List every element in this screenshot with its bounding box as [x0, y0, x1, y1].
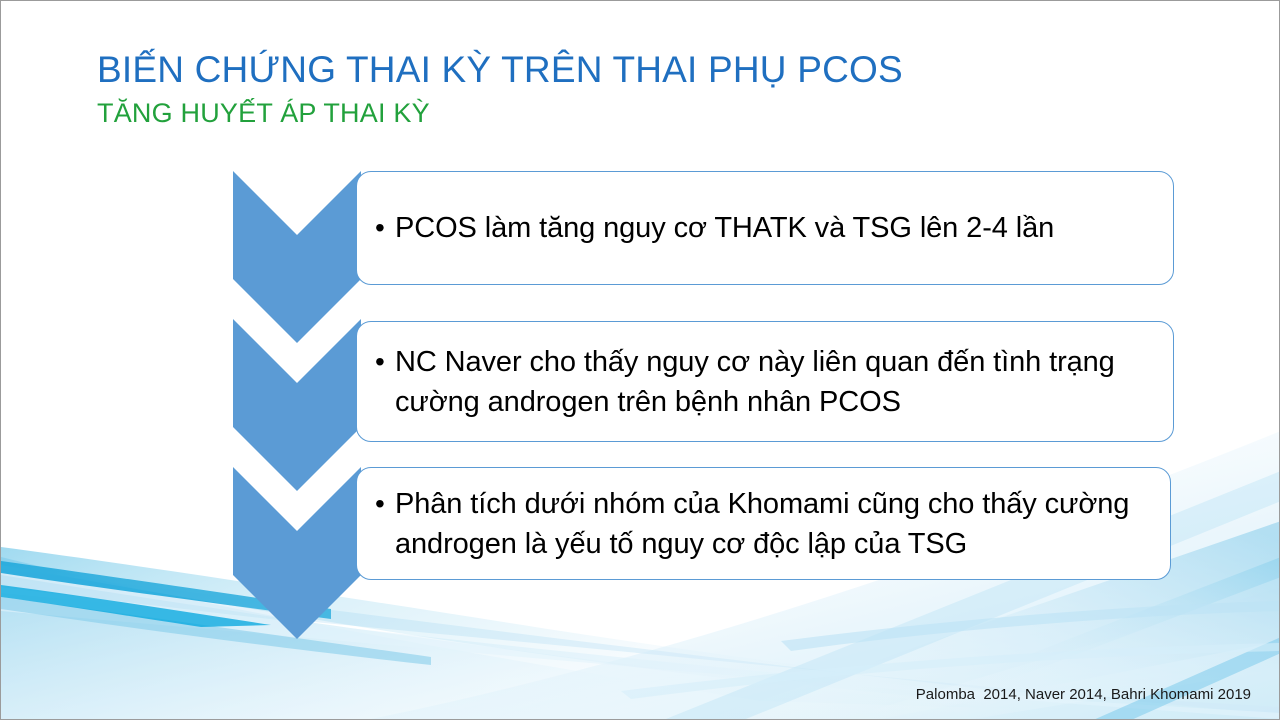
bullet-row: • NC Naver cho thấy nguy cơ này liên qua…: [375, 342, 1161, 422]
content-box: • NC Naver cho thấy nguy cơ này liên qua…: [356, 321, 1174, 442]
page-subtitle: TĂNG HUYẾT ÁP THAI KỲ: [97, 96, 1147, 130]
bullet-dot-icon: •: [375, 208, 395, 248]
page-title: BIẾN CHỨNG THAI KỲ TRÊN THAI PHỤ PCOS: [97, 47, 1147, 93]
chevron-arrow-stack: [233, 171, 361, 657]
bullet-text: NC Naver cho thấy nguy cơ này liên quan …: [395, 342, 1161, 422]
bullet-row: • Phân tích dưới nhóm của Khomami cũng c…: [375, 484, 1158, 564]
bullet-text: Phân tích dưới nhóm của Khomami cũng cho…: [395, 484, 1158, 564]
bullet-dot-icon: •: [375, 484, 395, 524]
bullet-row: • PCOS làm tăng nguy cơ THATK và TSG lên…: [375, 208, 1161, 248]
bullet-text: PCOS làm tăng nguy cơ THATK và TSG lên 2…: [395, 208, 1161, 248]
presentation-slide: BIẾN CHỨNG THAI KỲ TRÊN THAI PHỤ PCOS TĂ…: [0, 0, 1280, 720]
chevron-arrows-svg: [233, 171, 361, 657]
content-box: • Phân tích dưới nhóm của Khomami cũng c…: [356, 467, 1171, 580]
chevron-down-icon: [233, 171, 361, 343]
chevron-down-icon: [233, 467, 361, 639]
title-block: BIẾN CHỨNG THAI KỲ TRÊN THAI PHỤ PCOS TĂ…: [97, 47, 1147, 130]
bullet-dot-icon: •: [375, 342, 395, 382]
footer-citation: Palomba 2014, Naver 2014, Bahri Khomami …: [916, 685, 1251, 705]
content-box: • PCOS làm tăng nguy cơ THATK và TSG lên…: [356, 171, 1174, 285]
chevron-down-icon: [233, 319, 361, 491]
